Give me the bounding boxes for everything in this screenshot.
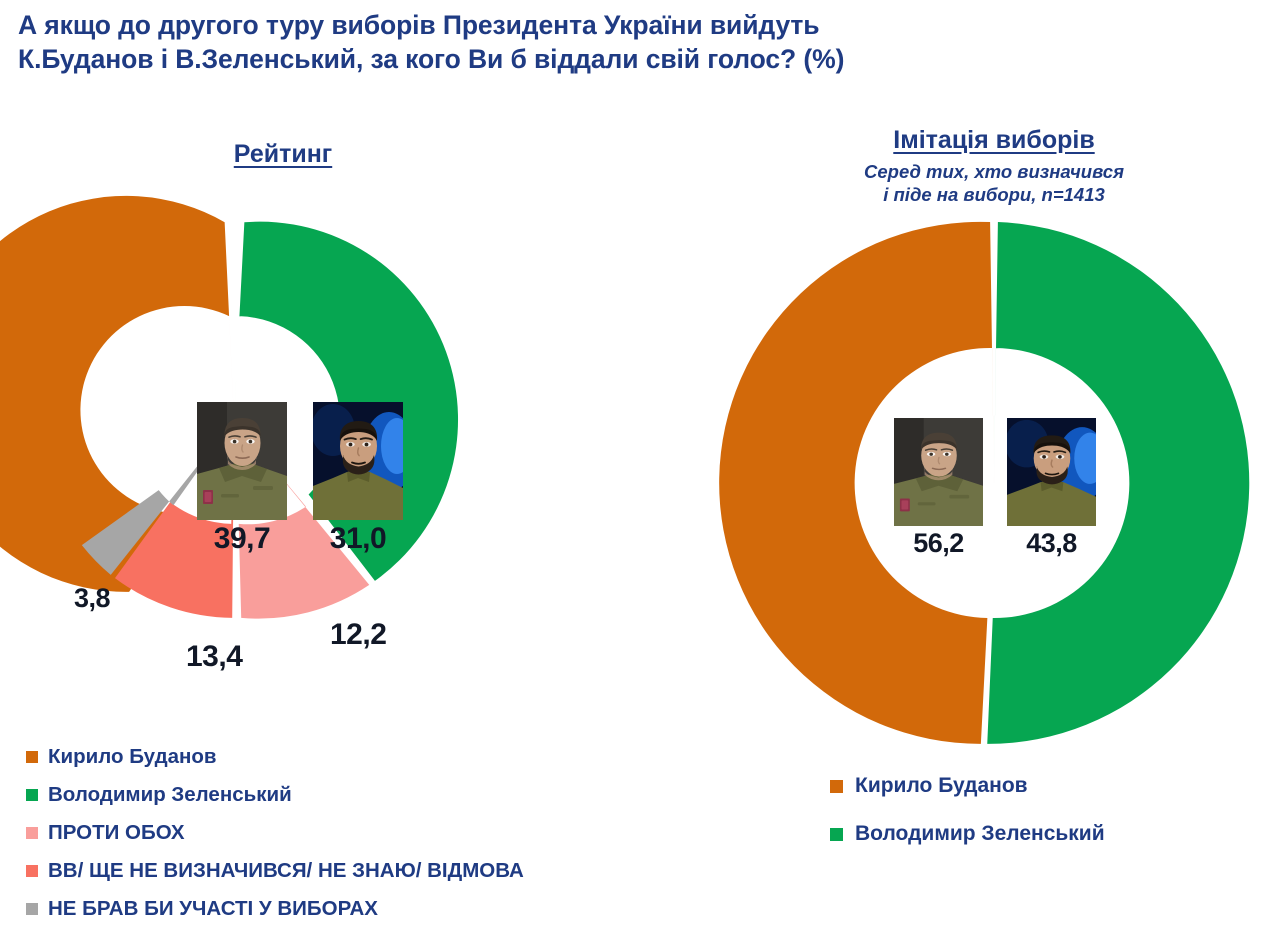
value-label-budanov-left: 39,7 (214, 522, 270, 556)
legend-swatch-orange (830, 780, 843, 793)
legend-item-zelensky: Володимир Зеленський (830, 810, 1105, 858)
value-label-zelensky-left: 31,0 (330, 522, 386, 556)
legend-label: Володимир Зеленський (855, 822, 1105, 846)
figure-budanov-left: 39,7 (197, 402, 287, 556)
legend-swatch-salmon (26, 865, 38, 877)
legend-label: ПРОТИ ОБОХ (48, 821, 185, 845)
right-chart-heading: Імітація виборів (834, 126, 1154, 155)
portrait-budanov (894, 418, 983, 526)
left-legend: Кирило Буданов Володимир Зеленський ПРОТ… (26, 738, 524, 928)
value-label-undecided: 13,4 (186, 640, 242, 674)
legend-swatch-green (830, 828, 843, 841)
legend-label: Кирило Буданов (48, 745, 216, 769)
infographic-canvas: А якщо до другого туру виборів Президент… (0, 0, 1280, 922)
legend-label: ВВ/ ЩЕ НЕ ВИЗНАЧИВСЯ/ НЕ ЗНАЮ/ ВІДМОВА (48, 859, 524, 883)
figure-budanov-right: 56,2 (894, 418, 983, 559)
portrait-budanov (197, 402, 287, 520)
right-legend: Кирило Буданов Володимир Зеленський (830, 762, 1105, 858)
figure-zelensky-left: 31,0 (313, 402, 403, 556)
legend-label: НЕ БРАВ БИ УЧАСТІ У ВИБОРАХ (48, 897, 378, 921)
value-label-zelensky-right: 43,8 (1026, 528, 1077, 559)
page-title: А якщо до другого туру виборів Президент… (18, 8, 1118, 76)
portrait-zelensky-art (1007, 418, 1096, 526)
left-chart-heading: Рейтинг (133, 140, 433, 169)
legend-item-no-vote: НЕ БРАВ БИ УЧАСТІ У ВИБОРАХ (26, 890, 524, 928)
legend-swatch-green (26, 789, 38, 801)
right-center-figures: 56,2 (880, 418, 1110, 559)
figure-zelensky-right: 43,8 (1007, 418, 1096, 559)
right-chart-subheading: Серед тих, хто визначився і піде на вибо… (834, 160, 1154, 206)
legend-item-budanov: Кирило Буданов (830, 762, 1105, 810)
value-label-no-vote: 3,8 (74, 583, 110, 614)
portrait-zelensky-art (313, 402, 403, 520)
portrait-budanov-art (894, 418, 983, 526)
portrait-budanov-art (197, 402, 287, 520)
legend-swatch-pink (26, 827, 38, 839)
legend-item-against-both: ПРОТИ ОБОХ (26, 814, 524, 852)
legend-swatch-orange (26, 751, 38, 763)
legend-item-zelensky: Володимир Зеленський (26, 776, 524, 814)
left-center-figures: 39,7 (180, 402, 420, 556)
value-label-against-both: 12,2 (330, 618, 386, 652)
legend-swatch-gray (26, 903, 38, 915)
legend-item-undecided: ВВ/ ЩЕ НЕ ВИЗНАЧИВСЯ/ НЕ ЗНАЮ/ ВІДМОВА (26, 852, 524, 890)
legend-label: Кирило Буданов (855, 774, 1028, 798)
value-label-budanov-right: 56,2 (913, 528, 964, 559)
legend-label: Володимир Зеленський (48, 783, 292, 807)
legend-item-budanov: Кирило Буданов (26, 738, 524, 776)
portrait-zelensky (313, 402, 403, 520)
portrait-zelensky (1007, 418, 1096, 526)
